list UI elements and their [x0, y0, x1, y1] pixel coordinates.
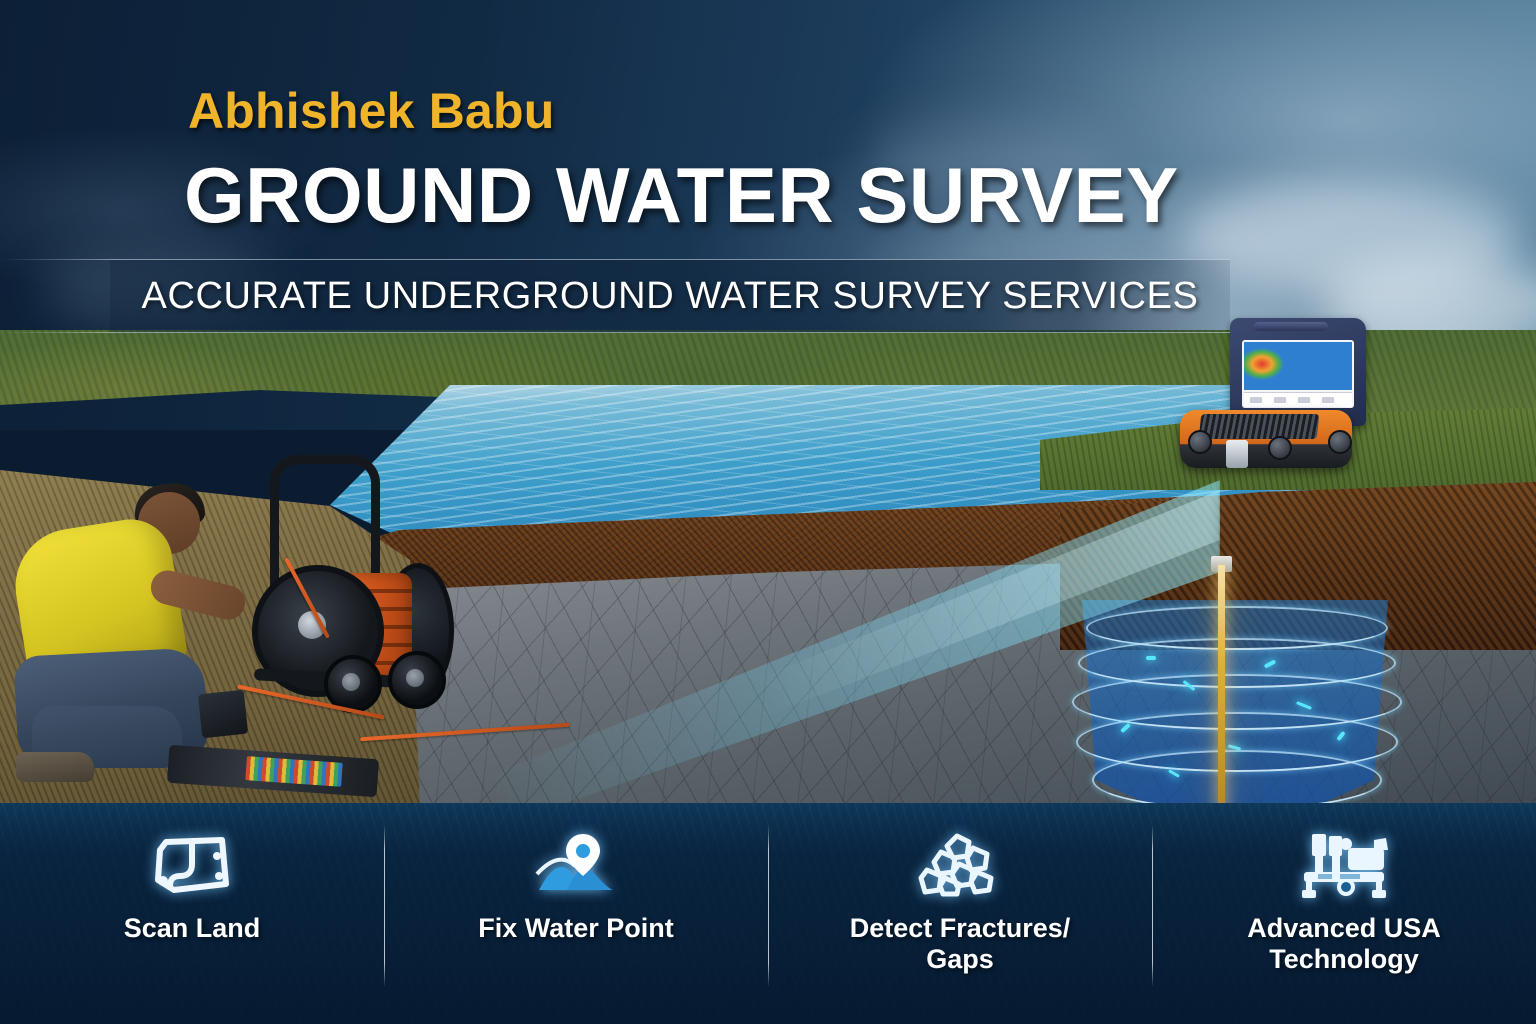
instrument-rod-mount [1226, 440, 1248, 468]
instrument-knob [1188, 430, 1212, 454]
features-grid: Scan Land Fix Water Point [0, 803, 1536, 1024]
instrument-knob [1328, 430, 1352, 454]
fracture-spark [1146, 656, 1156, 660]
drilling-rig-icon [1296, 825, 1392, 905]
features-footer: Scan Land Fix Water Point [0, 803, 1536, 1024]
cart-wheel [388, 651, 446, 709]
page-title: GROUND WATER SURVEY [184, 150, 1179, 241]
scan-ring [1092, 750, 1382, 810]
aquifer-scan-rings [1050, 600, 1420, 815]
feature-label: Fix Water Point [478, 913, 674, 944]
instrument-knob [1268, 436, 1292, 460]
feature-label: Detect Fractures/Gaps [850, 913, 1071, 976]
feature-item-scan-land[interactable]: Scan Land [0, 803, 384, 1024]
screen-toolbar [1244, 392, 1352, 407]
probe-rod [1218, 565, 1225, 815]
feature-label: Advanced USATechnology [1247, 913, 1441, 976]
handheld-device [198, 690, 248, 739]
feature-item-fix-water-point[interactable]: Fix Water Point [384, 803, 768, 1024]
map-pin-mountain-icon [533, 825, 619, 905]
instrument-vent-grille [1199, 414, 1320, 439]
feature-item-detect-fractures[interactable]: Detect Fractures/Gaps [768, 803, 1152, 1024]
instrument-screen [1242, 340, 1354, 408]
feature-item-advanced-usa-technology[interactable]: Advanced USATechnology [1152, 803, 1536, 1024]
subtitle-band: ACCURATE UNDERGROUND WATER SURVEY SERVIC… [110, 259, 1230, 333]
survey-instrument [1180, 318, 1370, 478]
cable-reel-cart [232, 455, 452, 745]
feature-label: Scan Land [124, 913, 261, 944]
poster: Abhishek Babu GROUND WATER SURVEY ACCURA… [0, 0, 1536, 1024]
brand-name: Abhishek Babu [188, 82, 555, 140]
rock-fractures-icon [917, 825, 1003, 905]
land-plot-icon [152, 825, 232, 905]
instrument-handle [1254, 322, 1328, 331]
technician-shoe [16, 752, 94, 782]
page-subtitle: ACCURATE UNDERGROUND WATER SURVEY SERVIC… [110, 260, 1230, 332]
resistivity-plot [1244, 342, 1352, 390]
